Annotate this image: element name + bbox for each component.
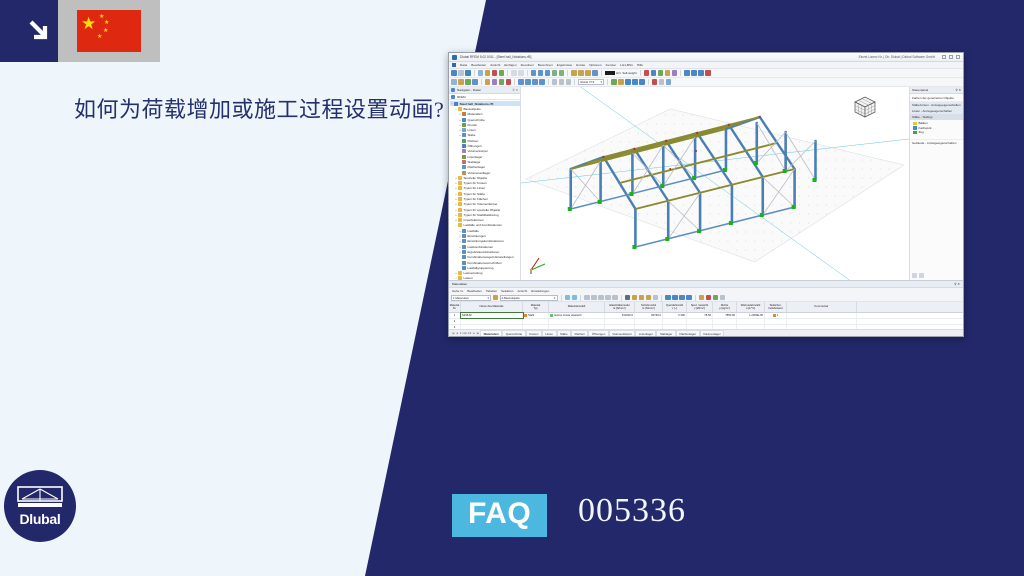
tree-node-label: Volumenauflager: [468, 171, 491, 175]
tree-node-label: Linien: [468, 128, 476, 132]
imperfection-icon[interactable]: [672, 70, 678, 76]
table-column-header[interactable]: SchubmodulG [N/mm²]: [635, 302, 663, 312]
tree-node-label: Lastfälle: [468, 229, 479, 233]
cell-value: S235JR: [462, 314, 472, 317]
close-button[interactable]: [956, 55, 960, 59]
tree-node-icon: [458, 197, 462, 201]
scale-objects-icon[interactable]: [539, 79, 545, 85]
navigator-header: Navigator - Daten ⚲ ✕: [449, 87, 520, 94]
table-cell[interactable]: S235JR: [461, 313, 523, 318]
cell-status-dot: [524, 314, 527, 317]
legend-item: Zug: [913, 130, 960, 135]
table-tab-linienlager[interactable]: Linienlager: [635, 330, 656, 336]
table-tab-stablager[interactable]: Stablager: [656, 330, 675, 336]
view-cube-icon[interactable]: [851, 93, 879, 121]
cell-value: Isotrop Linear elastisch: [554, 314, 582, 317]
page-title: 如何为荷载增加或施工过程设置动画?: [74, 92, 464, 124]
slide-canvas: ★ ★ ★ ★ ★ 如何为荷载增加或施工过程设置动画? Dlubal FAQ 0…: [0, 0, 1024, 576]
column-header-line: Typ: [533, 307, 537, 310]
tree-node-label: Kombinationsregeln Einstellungen: [468, 255, 514, 259]
table-column-header[interactable]: Spez. Gewichtγ [kN/m³]: [687, 302, 713, 312]
cell-status-dot: [550, 314, 553, 317]
status-bar: Punkt Raster/FA Objekt/FA Linienzug KS: …: [449, 336, 963, 337]
display-settings-icon[interactable]: [919, 273, 924, 278]
select-objects-icon[interactable]: [451, 79, 457, 85]
tree-node-icon: [462, 160, 466, 164]
control-panel: Steuerpanel ⚲ ✕ Farben der generierten O…: [909, 87, 963, 280]
table-cell[interactable]: 1: [449, 313, 461, 318]
table-excel-icon[interactable]: [713, 295, 719, 301]
cell-value: 1: [777, 314, 779, 317]
menu-item-lgbs[interactable]: LG1-BS1: [620, 63, 633, 67]
dimension-icon[interactable]: [559, 79, 565, 85]
zoom-all-icon[interactable]: [578, 70, 584, 76]
table-column-header[interactable]: Wärmedehnzahlα [1/°C]: [737, 302, 765, 312]
pin-icon[interactable]: ⚲ ✕: [955, 88, 961, 92]
save-icon[interactable]: [465, 70, 471, 76]
table-select-left[interactable]: 1 Materialien▾: [451, 295, 491, 301]
tree-node-label: Typen für Stabilitätsbezug: [464, 213, 499, 217]
column-header-line: ρ [kg/m³]: [719, 307, 730, 310]
tree-node-icon: [462, 133, 466, 137]
tree-node-icon: [462, 239, 466, 243]
control-panel-subtitle: Farben der generierten Objekte: [910, 94, 963, 102]
table-menu-gehezu[interactable]: Gehe zu: [452, 289, 463, 293]
settings-icon[interactable]: [666, 79, 672, 85]
printout-report-icon[interactable]: [485, 70, 491, 76]
tree-node-label: Lastkombinationen: [468, 245, 494, 249]
tree-node-icon: [458, 271, 462, 275]
maximize-button[interactable]: [949, 55, 953, 59]
menu-bar: Datei Bearbeiten Ansicht Einfügen Zuordn…: [449, 62, 963, 69]
deformation-icon[interactable]: [691, 70, 697, 76]
toolbar-primary: LF1 Self-weight: [449, 69, 963, 78]
tree-node-label: Querschnitte: [468, 118, 485, 122]
table-sort-icon[interactable]: [632, 295, 638, 301]
member-load-icon[interactable]: [651, 70, 657, 76]
table-copy-icon[interactable]: [653, 295, 659, 301]
cell-value: 1.2000E-05: [749, 314, 763, 317]
visibility-icon[interactable]: [659, 79, 665, 85]
table-menu-tabellen[interactable]: Tabellen: [486, 289, 497, 293]
work-area: Navigator - Daten ⚲ ✕ RFEM −Steel hall_N…: [449, 87, 963, 280]
window-title: Dlubal RFEM 5.02.0011 - [Steel hall_Nota…: [460, 55, 531, 59]
table-tab-strip: |◂ ◂ 1 von 12 ▸ ▸| MaterialienQuerschnit…: [449, 329, 963, 336]
object-snap-icon[interactable]: [618, 79, 624, 85]
new-line-icon[interactable]: [465, 79, 471, 85]
print-icon[interactable]: [478, 70, 484, 76]
result-diagram-icon[interactable]: [705, 70, 711, 76]
ortho-mode-icon[interactable]: [625, 79, 631, 85]
table-cell[interactable]: 210000.0: [605, 313, 635, 318]
cell-value: 7850.00: [725, 314, 735, 317]
table-cell[interactable]: 78.50: [687, 313, 713, 318]
tree-node-label: Lastfälle und Kombinationen: [464, 223, 502, 227]
tree-node-label: Typen für Flächen: [464, 197, 488, 201]
tree-node-icon: [458, 223, 462, 227]
new-solid-icon[interactable]: [492, 79, 498, 85]
tree-node-icon: [462, 165, 466, 169]
tree-node-label: Basisobjekte: [464, 107, 481, 111]
grid-snap-icon[interactable]: [611, 79, 617, 85]
arrow-down-right-icon: [22, 14, 56, 48]
tree-node-label: Linienlager: [468, 155, 483, 159]
table-tab-volumenlager[interactable]: Volumenlager: [700, 330, 725, 336]
tree-node-label: Stäbe: [468, 133, 476, 137]
tree-node-label: Flächenlager: [468, 165, 486, 169]
table-cell[interactable]: [713, 319, 737, 324]
workplane-icon[interactable]: [632, 79, 638, 85]
tree-node-label: Steel hall_Notations.rf5: [460, 102, 494, 106]
column-header-line: Name des Materials: [480, 305, 504, 308]
tree-node-label: Kombinationsvorschriften: [468, 261, 502, 265]
tree-node-label: Typen für Volumenkörper: [464, 202, 498, 206]
table-tab-volumenkörper[interactable]: Volumenkörper: [609, 330, 635, 336]
load-case-color-swatch: [605, 71, 615, 75]
delete-icon[interactable]: [652, 79, 658, 85]
table-tab-stäbe[interactable]: Stäbe: [557, 330, 572, 336]
table-tab-materialien[interactable]: Materialien: [480, 330, 502, 336]
table-cell[interactable]: Stahl: [523, 313, 549, 318]
tree-node-label: Spezielle Objekte: [464, 176, 488, 180]
tree-node-icon: [462, 255, 466, 259]
minimize-button[interactable]: [942, 55, 946, 59]
control-panel-footer-note: Gebäude - Anzeigeeigenschaften: [910, 139, 963, 147]
table-toolbar: 1 Materialien▾ A Basisobjekte▾: [449, 294, 963, 302]
table-body[interactable]: 1S235JRStahlIsotrop Linear elastisch2100…: [449, 313, 963, 329]
table-new-icon[interactable]: [672, 295, 678, 301]
table-grid2-icon[interactable]: [591, 295, 597, 301]
table-search-icon[interactable]: [572, 295, 578, 301]
tree-node-icon: [458, 176, 462, 180]
table-grid5-icon[interactable]: [612, 295, 618, 301]
app-icon: [452, 55, 457, 60]
table-tab-querschnitte[interactable]: Querschnitte: [502, 330, 525, 336]
tree-node-icon: [458, 181, 462, 185]
column-header-line: heitsbeiwert: [768, 307, 782, 310]
tree-node-label: Imperfektionen: [464, 218, 484, 222]
tree-node-label: Knoten: [468, 123, 478, 127]
table-cell[interactable]: [687, 319, 713, 324]
zoom-window-icon[interactable]: [571, 70, 577, 76]
tree-node-icon: [462, 149, 466, 153]
coordinate-axes-icon: [527, 255, 549, 275]
table-tab-linien[interactable]: Linien: [542, 330, 557, 336]
table-title: Materialien: [452, 282, 467, 286]
china-flag-icon: ★ ★ ★ ★ ★: [77, 10, 141, 52]
table-nav-label: 1 von 12: [459, 331, 473, 335]
dlubal-logo: Dlubal: [4, 470, 76, 542]
cell-status-dot: [773, 314, 776, 317]
table-column-header[interactable]: MaterialNr.: [449, 302, 461, 312]
navigator-title: Navigator - Daten: [457, 88, 481, 92]
tree-node-icon: [462, 245, 466, 249]
control-panel-legend: BalkenFachwerkZug: [910, 120, 963, 136]
column-header-line: G [N/mm²]: [642, 307, 654, 310]
table-cell[interactable]: 0.300: [663, 313, 687, 318]
load-case-name: Self-weight: [622, 71, 636, 75]
table-cell[interactable]: 80769.2: [635, 313, 663, 318]
tree-node-label: Materialien: [468, 112, 483, 116]
table-select-right[interactable]: A Basisobjekte▾: [500, 295, 558, 301]
cell-value: 80769.2: [651, 314, 661, 317]
pan-icon[interactable]: [585, 70, 591, 76]
table-properties-icon[interactable]: [679, 295, 685, 301]
menu-item-berechnen[interactable]: Berechnen: [538, 63, 553, 67]
column-header-line: α [1/°C]: [746, 307, 755, 310]
table-cell[interactable]: [737, 319, 765, 324]
menu-item-einfuegen[interactable]: Einfügen: [504, 63, 516, 67]
table-cell[interactable]: [523, 319, 549, 324]
tree-node-label: Typen für Linien: [464, 186, 486, 190]
menu-item-zuordnen[interactable]: Zuordnen: [521, 63, 534, 67]
table-cell[interactable]: 7850.00: [713, 313, 737, 318]
faq-badge: FAQ: [452, 494, 547, 537]
table-tab-öffnungen[interactable]: Öffnungen: [588, 330, 608, 336]
cell-value: 210000.0: [622, 314, 633, 317]
table-grid1-icon[interactable]: [584, 295, 590, 301]
tree-node-label: Einwirkungen: [468, 234, 486, 238]
tree-node-icon: [462, 250, 466, 254]
new-surface-icon[interactable]: [485, 79, 491, 85]
navigator-tree[interactable]: −Steel hall_Notations.rf5−Basisobjekte+M…: [449, 100, 520, 280]
table-cell[interactable]: 2: [449, 319, 461, 324]
tree-node-label: Einwirkungskombinationen: [468, 239, 504, 243]
menu-item-hilfe[interactable]: Hilfe: [637, 63, 643, 67]
table-menu-bearbeiten[interactable]: Bearbeiten: [467, 289, 482, 293]
column-header-line: Materialmodell: [568, 305, 585, 308]
column-header-line: Nr.: [453, 307, 456, 310]
legend-label: Zug: [919, 130, 924, 134]
table-column-header[interactable]: Teilsicher-heitsbeiwert: [765, 302, 787, 312]
menu-item-datei[interactable]: Datei: [460, 63, 467, 67]
table-cell[interactable]: [605, 319, 635, 324]
pin-icon[interactable]: ⚲ ✕: [512, 88, 518, 92]
window-titlebar: Dlubal RFEM 5.02.0011 - [Steel hall_Nota…: [449, 53, 963, 62]
tree-node-icon: [462, 139, 466, 143]
tree-node-icon: [458, 192, 462, 196]
tree-node-label: Typen für Knoten: [464, 181, 487, 185]
rotate-objects-icon[interactable]: [532, 79, 538, 85]
table-column-header[interactable]: ElastizitätsmodulE [N/mm²]: [605, 302, 635, 312]
animation-icon[interactable]: [698, 70, 704, 76]
legend-color-swatch: [913, 131, 917, 135]
tree-node-icon: [462, 128, 466, 132]
menu-item-extras[interactable]: Extras: [576, 63, 585, 67]
table-cell[interactable]: 1: [765, 313, 787, 318]
table-library-icon[interactable]: [686, 295, 692, 301]
table-grid4-icon[interactable]: [605, 295, 611, 301]
render-model-icon[interactable]: [531, 70, 537, 76]
navigator-tab-rfem[interactable]: RFEM: [457, 95, 466, 99]
table-cell[interactable]: [663, 319, 687, 324]
wireframe-icon[interactable]: [538, 70, 544, 76]
tree-node-icon: [462, 266, 466, 270]
new-member-icon[interactable]: [472, 79, 478, 85]
legend-color-swatch: [913, 126, 917, 130]
control-panel-title: Steuerpanel: [912, 88, 928, 92]
navigator-panel: Navigator - Daten ⚲ ✕ RFEM −Steel hall_N…: [449, 87, 521, 280]
menu-item-ansicht[interactable]: Ansicht: [490, 63, 500, 67]
table-cell[interactable]: [787, 319, 857, 324]
tree-node-icon: [454, 102, 458, 106]
column-header-line: ν [−]: [672, 307, 677, 310]
table-menu-ansicht[interactable]: Ansicht: [517, 289, 527, 293]
table-export-icon[interactable]: [706, 295, 712, 301]
color-settings-icon[interactable]: [912, 273, 917, 278]
new-support-icon[interactable]: [499, 79, 505, 85]
show-loads-icon[interactable]: [559, 70, 565, 76]
control-panel-buttons: [910, 271, 963, 280]
measure-icon[interactable]: [552, 79, 558, 85]
tree-node-icon: [458, 202, 462, 206]
table-column-header[interactable]: Querdehnzahlν [−]: [663, 302, 687, 312]
tree-node-icon: [458, 208, 462, 212]
menu-item-fenster[interactable]: Fenster: [606, 63, 617, 67]
free-load-icon[interactable]: [665, 70, 671, 76]
table-tab-flächen[interactable]: Flächen: [571, 330, 588, 336]
table-column-header[interactable]: Materialmodell: [549, 302, 605, 312]
tree-node-icon: [462, 118, 466, 122]
tree-node-icon: [462, 155, 466, 159]
rfem-application-window: Dlubal RFEM 5.02.0011 - [Steel hall_Nota…: [448, 52, 964, 337]
table-print-icon[interactable]: [699, 295, 705, 301]
pin-icon[interactable]: ⚲ ✕: [954, 282, 960, 286]
new-node-icon[interactable]: [458, 79, 464, 85]
table-cell[interactable]: [461, 319, 523, 324]
mirror-objects-icon[interactable]: [525, 79, 531, 85]
table-header-row: MaterialNr.Name des MaterialsMaterialTyp…: [449, 302, 963, 313]
tree-node-icon: [462, 123, 466, 127]
new-file-icon[interactable]: [451, 70, 457, 76]
column-header-line: γ [kN/m³]: [694, 307, 705, 310]
menu-item-optionen[interactable]: Optionen: [589, 63, 602, 67]
legend-color-swatch: [913, 122, 917, 126]
nodal-load-icon[interactable]: [644, 70, 650, 76]
table-column-header[interactable]: Dichteρ [kg/m³]: [713, 302, 737, 312]
navigator-tree-item[interactable]: −Lasten: [450, 276, 520, 280]
table-panel-header: Materialien ⚲ ✕: [449, 281, 963, 288]
table-cell[interactable]: [787, 313, 857, 318]
table-menu-einstellungen[interactable]: Einstellungen: [531, 289, 549, 293]
tree-node-label: Typen für spezielle Objekte: [464, 208, 501, 212]
materials-table[interactable]: MaterialNr.Name des MaterialsMaterialTyp…: [449, 302, 963, 329]
column-header-line: Kommentar: [815, 305, 829, 308]
redo-icon[interactable]: [518, 70, 524, 76]
tree-node-label: Stablager: [468, 160, 481, 164]
table-cell[interactable]: 1.2000E-05: [737, 313, 765, 318]
rfem-tab-icon: [451, 95, 455, 99]
tree-node-label: Typen für Stäbe: [464, 192, 486, 196]
tree-node-label: Flächen: [468, 139, 479, 143]
table-next-icon[interactable]: [646, 295, 652, 301]
table-help-icon[interactable]: [720, 295, 726, 301]
tree-node-icon: [458, 107, 462, 111]
tree-node-label: Ergebniskombinationen: [468, 250, 500, 254]
tree-node-label: Volumenkörper: [468, 149, 489, 153]
tree-node-icon: [462, 261, 466, 265]
cell-value: 78.50: [704, 314, 711, 317]
rotate-view-icon[interactable]: [592, 70, 598, 76]
table-delete-icon[interactable]: [625, 295, 631, 301]
table-column-header[interactable]: MaterialTyp: [523, 302, 549, 312]
results-icon[interactable]: [684, 70, 690, 76]
model-viewport[interactable]: [521, 87, 909, 280]
tree-node-label: Öffnungen: [468, 144, 482, 148]
open-file-icon[interactable]: [458, 70, 464, 76]
export-icon[interactable]: [492, 70, 498, 76]
copy-objects-icon[interactable]: [518, 79, 524, 85]
brand-name: Dlubal: [20, 511, 61, 527]
tree-node-icon: [458, 276, 462, 280]
legend-label: Fachwerk: [919, 126, 932, 130]
table-first-icon[interactable]: [493, 295, 499, 301]
guide-lines-icon[interactable]: [639, 79, 645, 85]
faq-number: 005336: [578, 492, 686, 530]
cell-value: 2: [454, 320, 456, 323]
table-cell[interactable]: [765, 319, 787, 324]
comment-icon[interactable]: [566, 79, 572, 85]
legend-label: Balken: [919, 121, 928, 125]
table-edit-icon[interactable]: [665, 295, 671, 301]
coordinate-system-select[interactable]: Global XYZ ▾: [578, 79, 604, 85]
tree-node-icon: [462, 144, 466, 148]
undo-icon[interactable]: [511, 70, 517, 76]
table-cell[interactable]: [549, 319, 605, 324]
surface-load-icon[interactable]: [658, 70, 664, 76]
table-grid3-icon[interactable]: [598, 295, 604, 301]
tree-node-icon: [462, 234, 466, 238]
toolbar-secondary: Global XYZ ▾: [449, 78, 963, 87]
table-filter-icon[interactable]: [565, 295, 571, 301]
tree-node-icon: [462, 229, 466, 233]
cell-value: Stahl: [528, 314, 534, 317]
frame-truss-icon: [17, 486, 63, 510]
table-panel: Materialien ⚲ ✕ Gehe zu Bearbeiten Tabel…: [449, 280, 963, 336]
table-column-header[interactable]: Kommentar: [787, 302, 857, 312]
show-numbering-icon[interactable]: [552, 70, 558, 76]
table-prev-icon[interactable]: [639, 295, 645, 301]
menu-item-ergebnisse[interactable]: Ergebnisse: [557, 63, 572, 67]
table-menu-selektion[interactable]: Selektion: [501, 289, 513, 293]
tree-node-icon: [458, 186, 462, 190]
control-panel-header: Steuerpanel ⚲ ✕: [910, 87, 963, 94]
tree-node-icon: [458, 213, 462, 217]
tree-node-label: Lasten: [464, 276, 473, 280]
table-tab-flächenlager[interactable]: Flächenlager: [676, 330, 700, 336]
load-case-tag: LF1: [616, 71, 621, 75]
tree-node-label: Lastfallgruppierung: [468, 266, 494, 270]
table-cell[interactable]: [635, 319, 663, 324]
table-column-header[interactable]: Name des Materials: [461, 302, 523, 312]
navigator-icon: [451, 88, 455, 92]
calculate-icon[interactable]: [499, 70, 505, 76]
cell-value: 1: [454, 314, 456, 317]
menu-item-bearbeiten[interactable]: Bearbeiten: [471, 63, 486, 67]
tree-node-icon: [458, 218, 462, 222]
tree-node-label: Lastverteilung: [464, 271, 483, 275]
cell-value: 0.300: [678, 314, 685, 317]
table-cell[interactable]: Isotrop Linear elastisch: [549, 313, 605, 318]
column-header-line: E [N/mm²]: [613, 307, 625, 310]
new-hinge-icon[interactable]: [506, 79, 512, 85]
flag-tile: ★ ★ ★ ★ ★: [58, 0, 160, 62]
license-text: Einzel-Lizenz Nr. | Dlr. Dlubal | Dlubal…: [859, 55, 935, 59]
solid-view-icon[interactable]: [545, 70, 551, 76]
tree-node-icon: [462, 112, 466, 116]
table-tab-knoten[interactable]: Knoten: [526, 330, 542, 336]
tree-node-icon: [462, 171, 466, 175]
